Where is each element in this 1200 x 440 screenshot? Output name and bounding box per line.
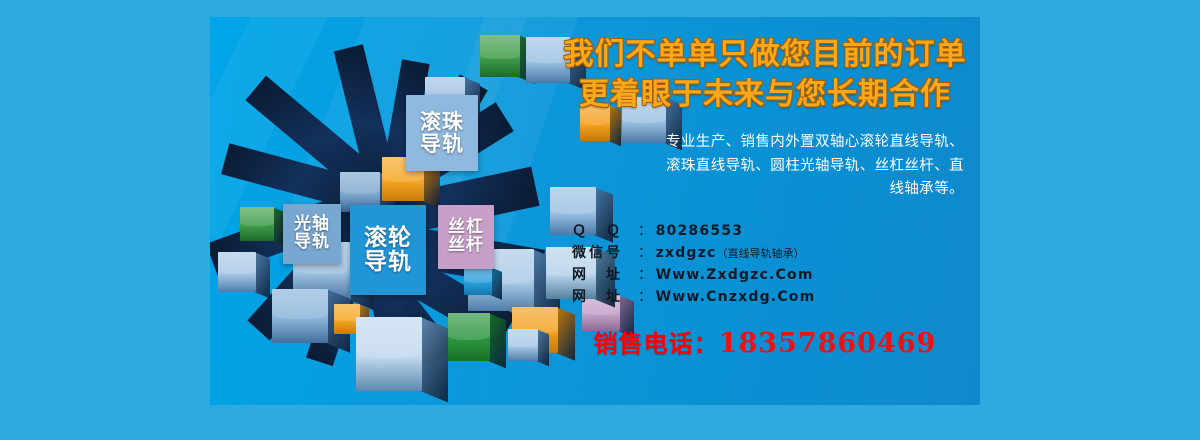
headline-line-2: 更着眼于未来与您长期合作 <box>560 75 970 115</box>
contact-label: 网 址 <box>572 264 638 286</box>
contact-label: Ｑ Ｑ <box>572 220 638 242</box>
plate-label-line2: 丝杆 <box>448 235 484 255</box>
contact-row-qq: Ｑ Ｑ：80286553 <box>572 220 970 242</box>
contact-value-website-1[interactable]: Www.Zxdgzc.Com <box>656 267 814 283</box>
decorative-cube <box>448 313 490 361</box>
contact-block: Ｑ Ｑ：80286553 微信号：zxdgzc（直线导轨轴承） 网 址：Www.… <box>560 220 970 308</box>
cube-front-face <box>272 289 328 343</box>
contact-separator: ： <box>638 289 653 305</box>
headline: 我们不单单只做您目前的订单 更着眼于未来与您长期合作 <box>560 35 970 115</box>
contact-separator: ： <box>638 223 653 239</box>
banner-text-column: 我们不单单只做您目前的订单 更着眼于未来与您长期合作 专业生产、销售内外置双轴心… <box>560 35 970 387</box>
cube-front-face <box>480 35 520 77</box>
decorative-cube <box>240 207 274 241</box>
plate-label-line2: 导轨 <box>294 232 330 252</box>
plate-label-line1: 滚轮 <box>364 225 412 251</box>
contact-row-website-2: 网 址：Www.Cnzxdg.Com <box>572 286 970 308</box>
contact-value-wechat[interactable]: zxdgzc <box>656 245 717 261</box>
plate-label-line1: 滚珠 <box>420 110 464 134</box>
contact-row-website-1: 网 址：Www.Zxdgzc.Com <box>572 264 970 286</box>
contact-note-wechat: （直线导轨轴承） <box>716 247 804 260</box>
contact-value-qq[interactable]: 80286553 <box>656 223 744 239</box>
sales-phone-block: 销售电话：18357860469 <box>560 324 970 359</box>
sales-phone-number[interactable]: 18357860469 <box>719 328 937 359</box>
contact-separator: ： <box>638 245 653 261</box>
decorative-cube <box>480 35 520 77</box>
product-plate-gunzhu-daogui: 滚珠 导轨 <box>406 95 478 171</box>
decorative-cube <box>508 329 538 361</box>
contact-separator: ： <box>638 267 653 283</box>
contact-value-website-2[interactable]: Www.Cnzxdg.Com <box>656 289 816 305</box>
cube-front-face <box>218 252 256 292</box>
product-plate-gunlun-daogui: 滚轮 导轨 <box>350 205 426 295</box>
headline-line-1: 我们不单单只做您目前的订单 <box>564 37 967 72</box>
plate-label-line2: 导轨 <box>364 249 412 275</box>
description-line-3: 线轴承等。 <box>890 181 965 197</box>
description-line-1: 专业生产、销售内外置双轴心滚轮直线导轨、 <box>666 134 964 150</box>
cube-front-face <box>240 207 274 241</box>
decorative-cube <box>272 289 328 343</box>
contact-label: 微信号 <box>572 242 638 264</box>
plate-label-line2: 导轨 <box>420 132 464 156</box>
cube-side-face <box>254 252 270 298</box>
decorative-cube <box>356 317 422 391</box>
cube-side-face <box>488 313 506 368</box>
cube-front-face <box>464 267 492 295</box>
description-line-2: 滚珠直线导轨、圆柱光轴导轨、丝杠丝杆、直 <box>666 158 964 174</box>
cube-front-face <box>356 317 422 391</box>
description: 专业生产、销售内外置双轴心滚轮直线导轨、 滚珠直线导轨、圆柱光轴导轨、丝杠丝杆、… <box>560 131 970 201</box>
sales-phone-label: 销售电话： <box>594 330 719 358</box>
page-root: 滚珠 导轨 光轴 导轨 滚轮 导轨 丝杠 丝杆 <box>0 0 1200 440</box>
product-plate-guangzhou-daogui: 光轴 导轨 <box>283 204 341 264</box>
cube-cluster-graphic: 滚珠 导轨 光轴 导轨 滚轮 导轨 丝杠 丝杆 <box>210 17 590 405</box>
cube-side-face <box>420 317 448 402</box>
promo-banner: 滚珠 导轨 光轴 导轨 滚轮 导轨 丝杠 丝杆 <box>210 17 980 405</box>
contact-row-wechat: 微信号：zxdgzc（直线导轨轴承） <box>572 242 970 264</box>
cube-front-face <box>508 329 538 361</box>
product-plate-sigang-sigan: 丝杠 丝杆 <box>438 205 494 269</box>
contact-label: 网 址 <box>572 286 638 308</box>
decorative-cube <box>218 252 256 292</box>
cube-front-face <box>448 313 490 361</box>
decorative-cube <box>464 267 492 295</box>
